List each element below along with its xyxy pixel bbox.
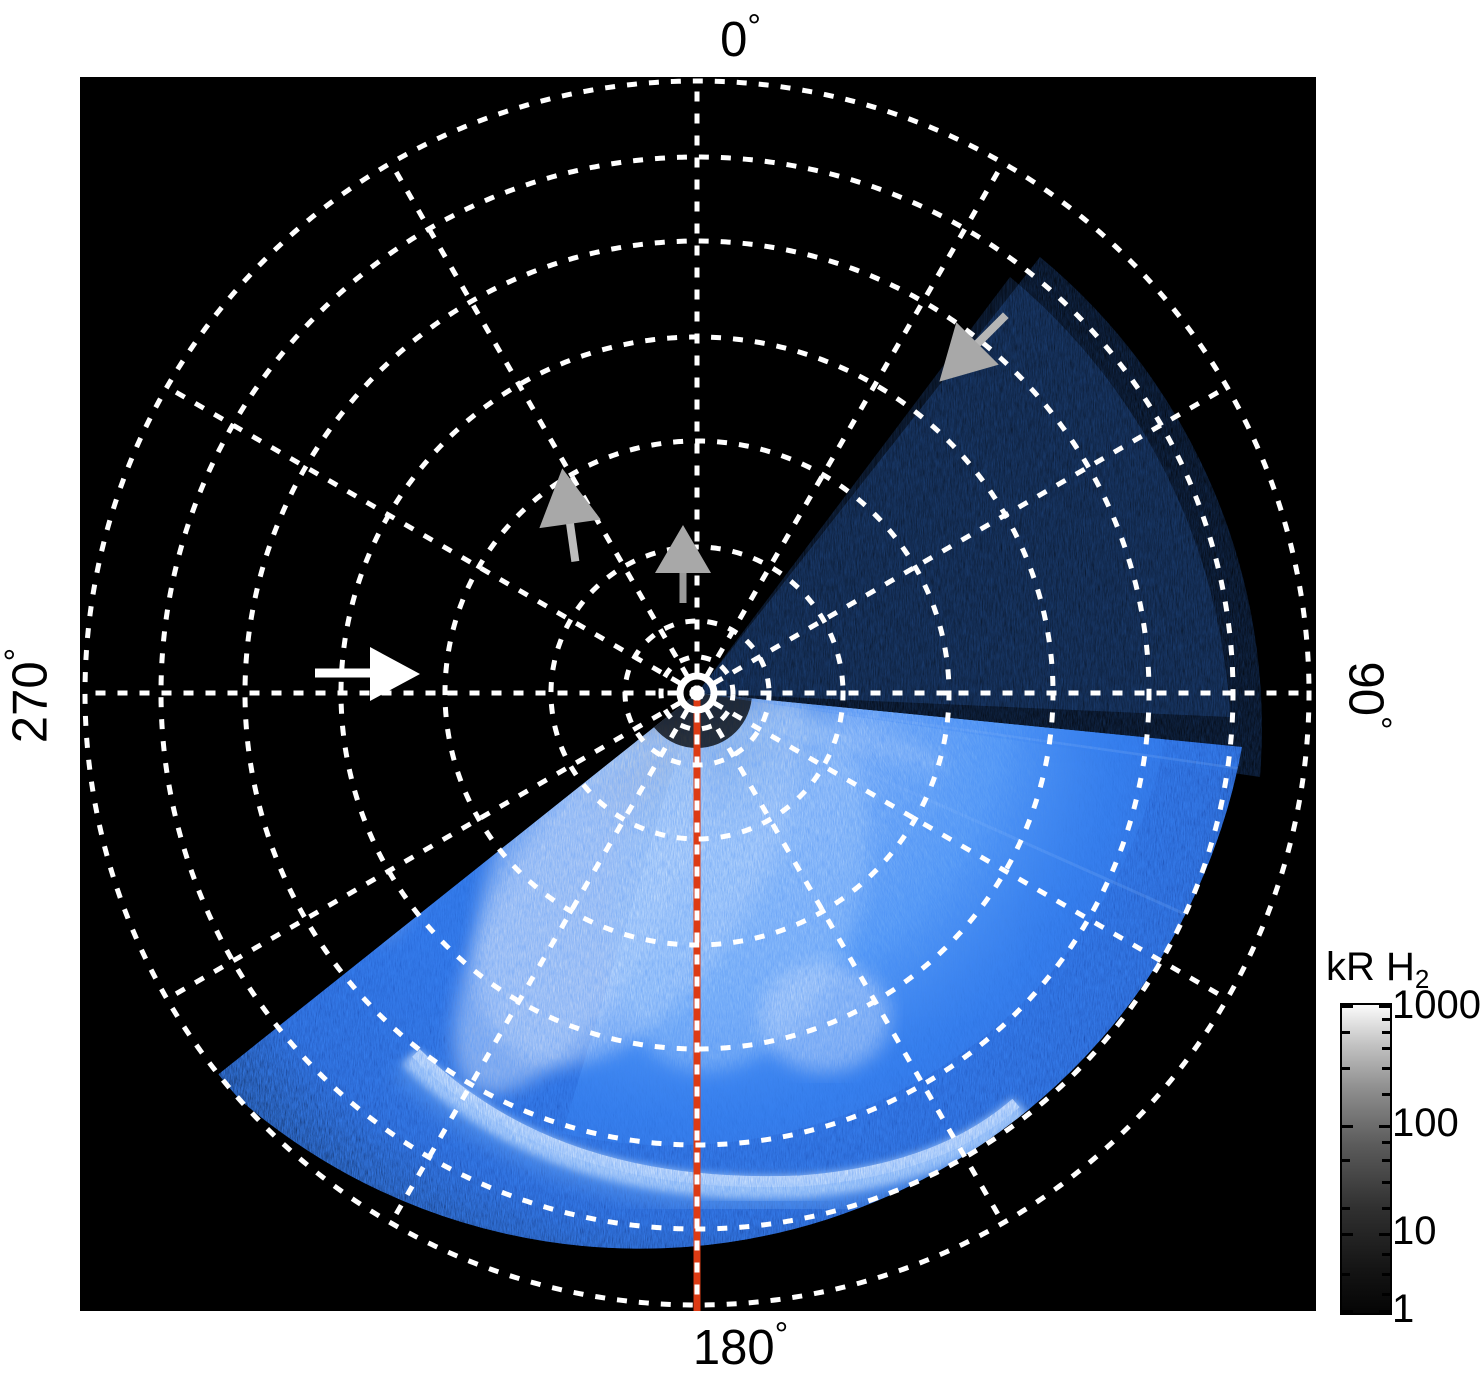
- degree-symbol-bottom: °: [775, 1316, 789, 1354]
- azimuth-label-top: 0°: [0, 10, 1481, 65]
- azimuth-label-left: 270°: [1, 616, 56, 776]
- polar-plot-svg: [80, 77, 1316, 1311]
- azimuth-label-top-value: 0: [720, 13, 747, 67]
- azimuth-label-left-value: 270: [4, 661, 58, 743]
- colorbar-tick-10: 10: [1392, 1211, 1437, 1251]
- azimuth-label-right: 90°: [1341, 616, 1396, 776]
- degree-symbol-right: °: [1360, 716, 1398, 730]
- colorbar: kR H2 1000 100 10 1: [1336, 945, 1481, 1325]
- colorbar-tick-100: 100: [1392, 1103, 1459, 1143]
- azimuth-label-bottom: 180°: [0, 1318, 1481, 1373]
- colorbar-tick-1: 1: [1392, 1289, 1414, 1329]
- azimuth-label-bottom-value: 180: [693, 1321, 775, 1375]
- degree-symbol-left: °: [0, 648, 37, 662]
- polar-plot-panel[interactable]: [80, 77, 1316, 1311]
- colorbar-tick-1000: 1000: [1392, 985, 1481, 1025]
- degree-symbol-top: °: [747, 8, 761, 46]
- colorbar-gradient: [1340, 1003, 1392, 1315]
- azimuth-label-right-value: 90: [1339, 661, 1393, 716]
